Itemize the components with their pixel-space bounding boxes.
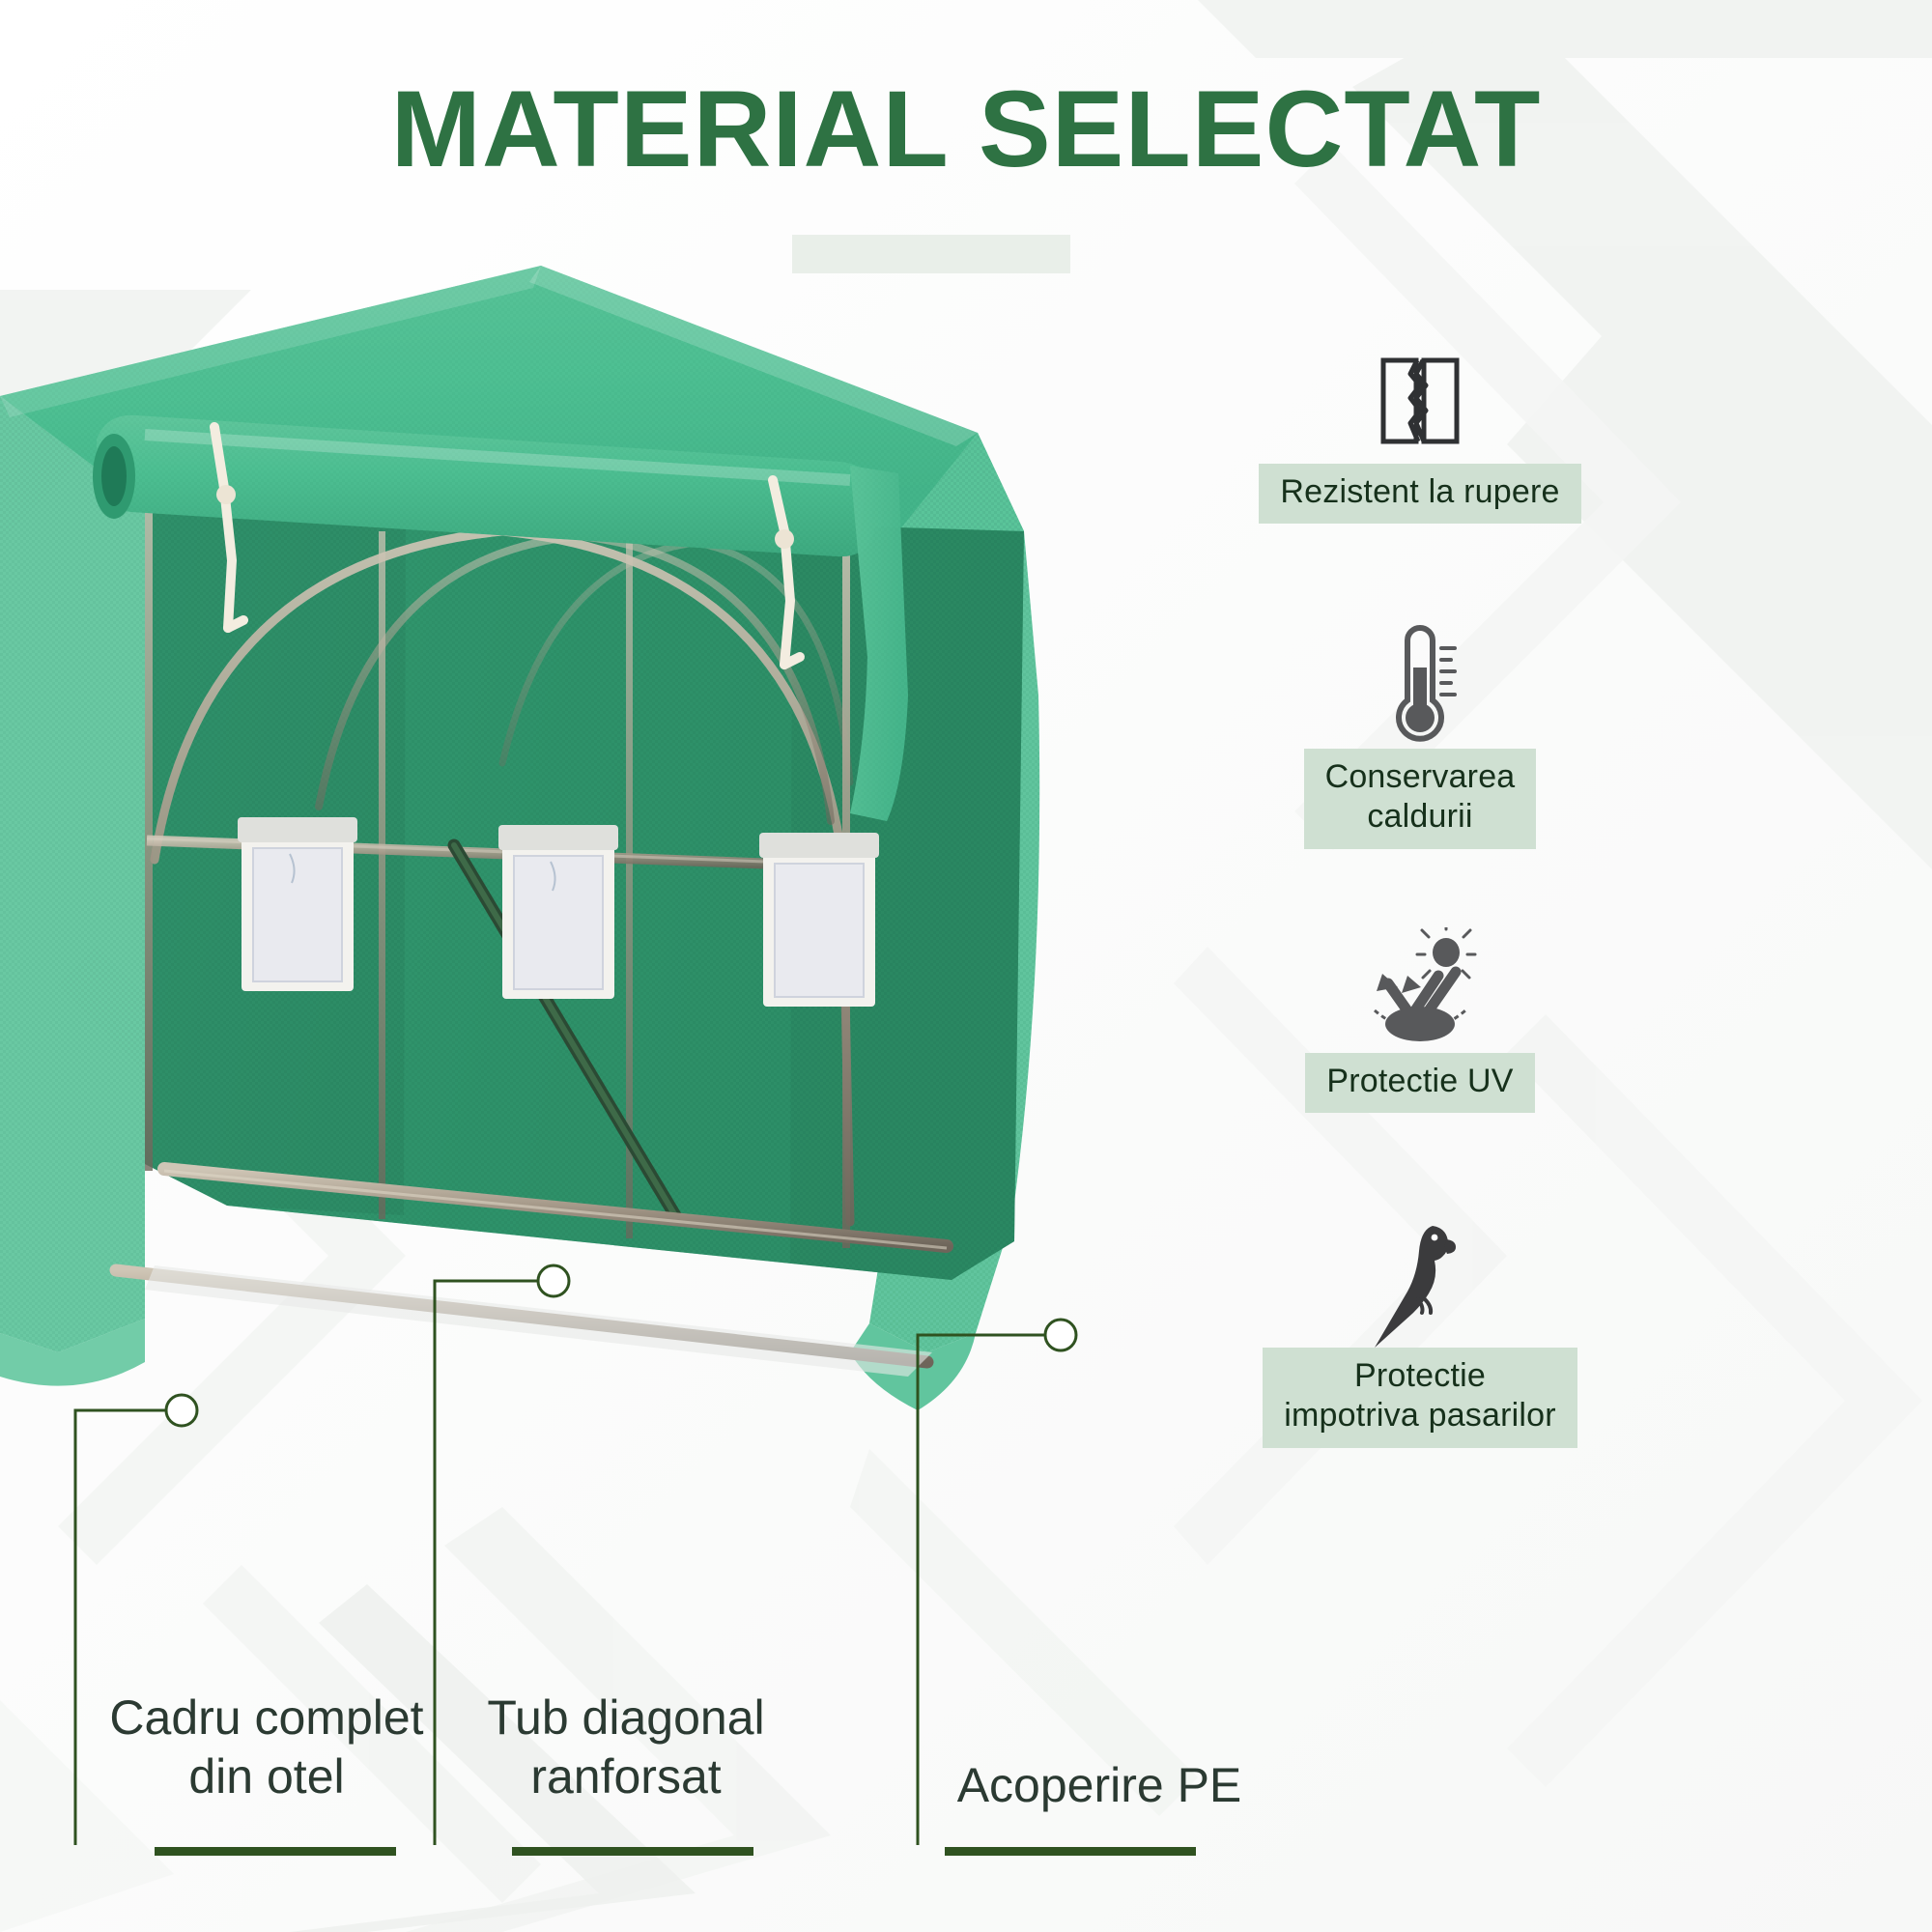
feature-label: Conservarea caldurii (1304, 749, 1537, 849)
feature-label: Rezistent la rupere (1259, 464, 1580, 524)
mesh-window (759, 833, 879, 1007)
mesh-window (498, 825, 618, 999)
feature-heat-retention: Conservarea caldurii (1212, 623, 1628, 849)
left-side-wall (0, 396, 145, 1386)
mesh-window (238, 817, 357, 991)
uv-protection-icon (1212, 927, 1628, 1053)
ground-shadow (145, 1265, 932, 1377)
feature-tear-resistant: Rezistent la rupere (1212, 338, 1628, 524)
callout-underline (155, 1847, 396, 1856)
mesh-window-group (238, 817, 879, 1007)
callout-underline (512, 1847, 753, 1856)
callout-underline (945, 1847, 1196, 1856)
feature-uv-protection: Protectie UV (1212, 927, 1628, 1113)
thermometer-icon (1212, 623, 1628, 749)
bird-icon (1212, 1222, 1628, 1348)
product-image (0, 241, 1256, 1594)
feature-label: Protectie impotriva pasarilor (1263, 1348, 1577, 1448)
feature-label: Protectie UV (1305, 1053, 1534, 1113)
callout-label: Cadru complet din otel (93, 1689, 440, 1806)
callout-label: Tub diagonal ranforsat (452, 1689, 800, 1806)
feature-list: Rezistent la rupere Conser (1212, 338, 1628, 1594)
feature-bird-protection: Protectie impotriva pasarilor (1212, 1222, 1628, 1448)
callout-label: Acoperire PE (935, 1756, 1264, 1815)
tear-resistant-icon (1212, 338, 1628, 464)
callout-labels: Cadru complet din otel Tub diagonal ranf… (0, 1584, 1932, 1932)
infographic-root: MATERIAL SELECTAT (0, 0, 1932, 1932)
page-title: MATERIAL SELECTAT (0, 75, 1932, 184)
